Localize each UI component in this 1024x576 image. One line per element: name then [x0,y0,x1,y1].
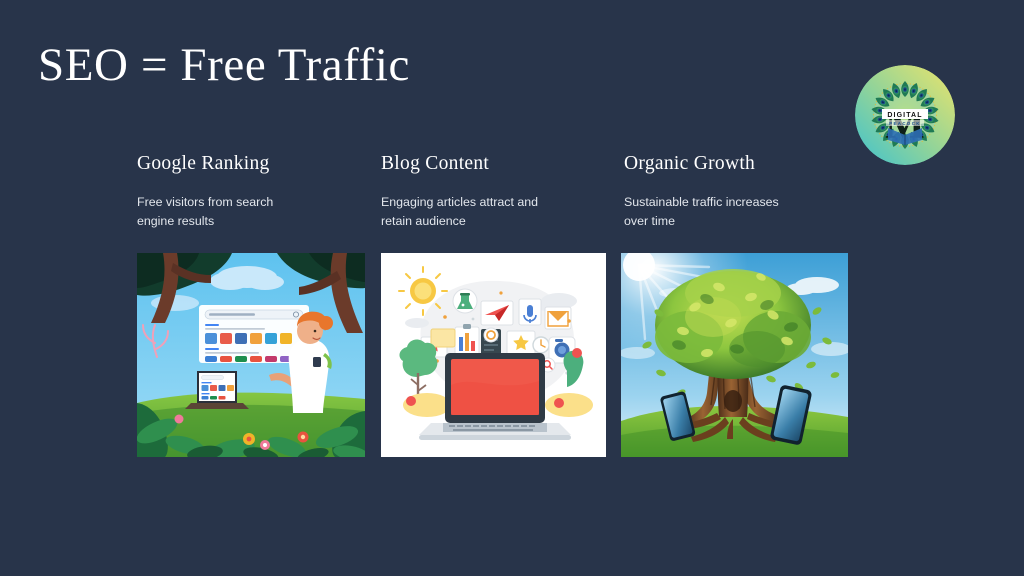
feature-column-organic-growth: Organic Growth Sustainable traffic incre… [624,153,867,231]
svg-text:PEACOCK: PEACOCK [889,121,921,126]
column-description: Engaging articles attract and retain aud… [381,193,556,231]
feature-columns: Google Ranking Free visitors from search… [137,153,849,231]
image-growing-tree-mobile-illustration [621,253,848,457]
column-description: Free visitors from search engine results [137,193,312,231]
feature-images [137,253,848,457]
image-laptop-content-icons-illustration [381,253,606,457]
column-description: Sustainable traffic increases over time [624,193,799,231]
brand-logo: M DIGITAL PEACOCK [855,65,955,165]
image-search-results-jungle-illustration [137,253,365,457]
feature-column-blog-content: Blog Content Engaging articles attract a… [381,153,624,231]
column-heading: Blog Content [381,153,624,174]
page-title: SEO = Free Traffic [38,38,410,92]
column-heading: Organic Growth [624,153,867,174]
feature-column-google-ranking: Google Ranking Free visitors from search… [137,153,380,231]
column-heading: Google Ranking [137,153,380,174]
svg-text:DIGITAL: DIGITAL [887,112,922,119]
